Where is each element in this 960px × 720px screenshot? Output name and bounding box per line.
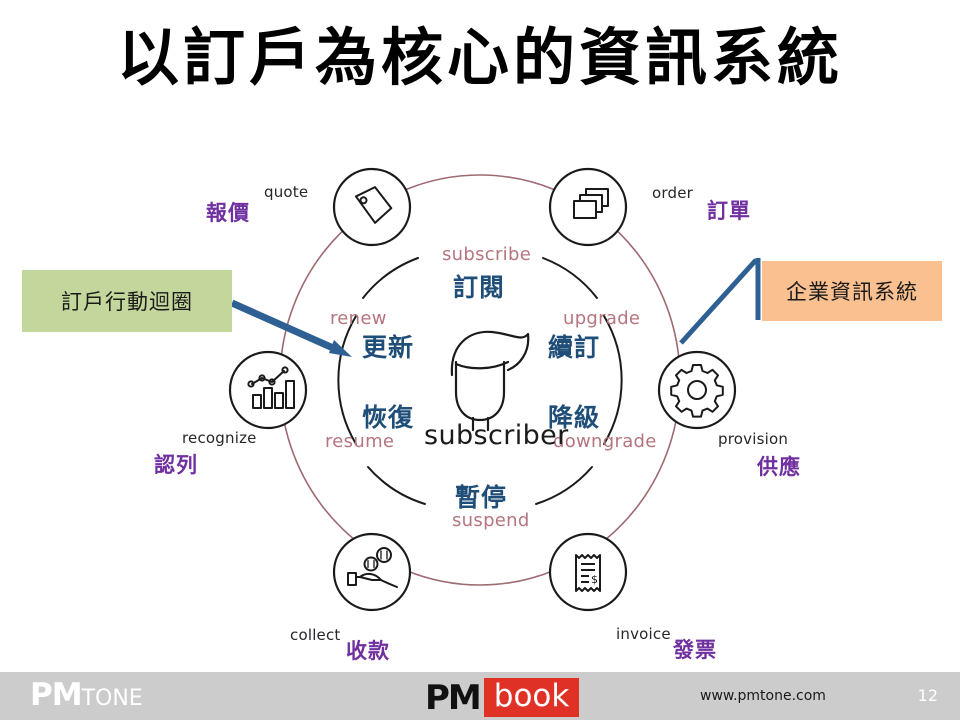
inner-arc-subscribe-upgrade xyxy=(543,258,597,298)
inner-arc-suspend-downgrade xyxy=(536,467,592,504)
node-label-recognize-zh: 認列 xyxy=(154,455,198,476)
pmtone-logo-tail: TONE xyxy=(82,688,143,710)
inner-label-renew-zh: 更新 xyxy=(362,335,414,360)
inner-label-resume-zh: 恢復 xyxy=(362,405,414,430)
outer-node-circles xyxy=(230,169,735,610)
center-caption: subscriber xyxy=(424,420,569,451)
callout-subscriber-action-loop: 訂戶行動迴圈 xyxy=(22,270,232,332)
pmbook-logo: PM book xyxy=(425,678,579,717)
node-circle-invoice[interactable] xyxy=(550,534,626,610)
svg-text:$: $ xyxy=(591,573,598,586)
node-label-quote-en: quote xyxy=(264,185,308,200)
footer-url[interactable]: www.pmtone.com xyxy=(700,688,826,704)
inner-label-suspend-en: suspend xyxy=(452,512,530,530)
page-number: 12 xyxy=(918,686,938,705)
node-label-provision-en: provision xyxy=(718,432,788,447)
inner-arc-resume-suspend xyxy=(368,467,425,504)
inner-arc-renew-resume xyxy=(338,316,356,444)
subscriber-head-icon xyxy=(452,332,528,430)
node-label-collect-en: collect xyxy=(290,628,341,643)
page-title: 以訂戶為核心的資訊系統 xyxy=(0,22,960,93)
inner-label-suspend-zh: 暫停 xyxy=(455,485,507,510)
inner-label-subscribe-zh: 訂閱 xyxy=(453,275,505,300)
inner-label-upgrade-en: upgrade xyxy=(563,310,640,328)
pmbook-logo-mark: PM xyxy=(425,681,480,715)
right-callout-bracket xyxy=(681,258,758,343)
node-label-order-zh: 訂單 xyxy=(707,201,751,222)
inner-label-renew-en: renew xyxy=(330,310,387,328)
inner-label-resume-en: resume xyxy=(325,433,394,451)
callout-enterprise-information-system: 企業資訊系統 xyxy=(762,261,942,321)
diagram-vector-layer: $ xyxy=(0,130,960,670)
node-label-invoice-zh: 發票 xyxy=(673,640,717,661)
pmbook-logo-badge: book xyxy=(484,678,580,717)
inner-arc-upgrade-downgrade xyxy=(604,316,622,444)
node-label-collect-zh: 收款 xyxy=(346,641,390,662)
inner-label-upgrade-zh: 續訂 xyxy=(548,335,600,360)
footer-bar: PM TONE PM book www.pmtone.com 12 xyxy=(0,672,960,720)
node-label-quote-zh: 報價 xyxy=(206,203,250,224)
pmtone-logo-mark: PM xyxy=(30,680,82,711)
inner-label-subscribe-en: subscribe xyxy=(442,246,531,264)
inner-arc-renew-subscribe xyxy=(363,258,418,298)
subscription-lifecycle-diagram: $ xyxy=(0,130,960,670)
node-label-recognize-en: recognize xyxy=(182,431,257,446)
pmtone-logo: PM TONE xyxy=(30,680,143,711)
node-label-invoice-en: invoice xyxy=(616,627,671,642)
node-label-provision-zh: 供應 xyxy=(757,457,801,478)
node-circle-collect[interactable] xyxy=(334,534,410,610)
node-label-order-en: order xyxy=(652,186,693,201)
node-circle-quote[interactable] xyxy=(334,169,410,245)
